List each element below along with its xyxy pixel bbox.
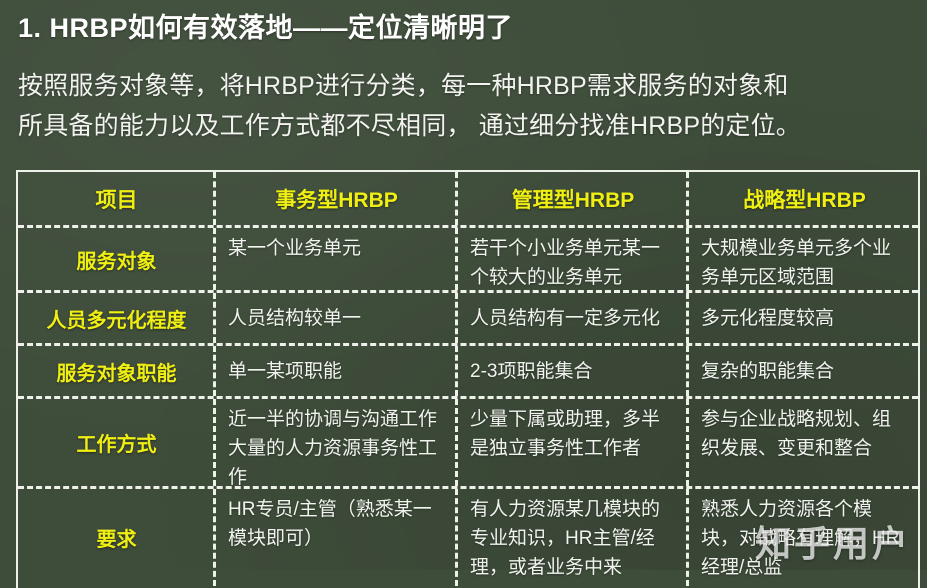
table-cell: 大规模业务单元多个业务单元区域范围 — [686, 228, 918, 290]
row-label: 要求 — [97, 523, 137, 552]
table-row: 要求 HR专员/主管（熟悉某一模块即可） 有人力资源某几模块的专业知识，HR主管… — [18, 486, 918, 586]
cell-text: 单一某项职能 — [228, 357, 342, 386]
cell-text: 复杂的职能集合 — [701, 357, 834, 386]
slide-canvas: 1. HRBP如何有效落地——定位清晰明了 按照服务对象等，将HRBP进行分类，… — [0, 0, 927, 570]
cell-text: 少量下属或助理，多半是独立事务性工作者 — [470, 405, 676, 463]
header-label: 事务型HRBP — [275, 184, 398, 214]
row-label: 服务对象 — [77, 245, 157, 274]
table-header-cell-strategic: 战略型HRBP — [686, 172, 918, 225]
cell-text: 某一个业务单元 — [228, 234, 361, 263]
table-header-row: 项目 事务型HRBP 管理型HRBP 战略型HRBP — [18, 172, 918, 225]
table-cell: 单一某项职能 — [213, 346, 455, 396]
table-cell: 熟悉人力资源各个模块，对战略有理解，HR经理/总监 — [686, 489, 918, 586]
cell-text: 大规模业务单元多个业务单元区域范围 — [701, 234, 908, 292]
table-cell: 复杂的职能集合 — [686, 346, 918, 396]
table-row: 人员多元化程度 人员结构较单一 人员结构有一定多元化 多元化程度较高 — [18, 290, 918, 343]
table-row: 工作方式 近一半的协调与沟通工作大量的人力资源事务性工作 少量下属或助理，多半是… — [18, 396, 918, 486]
table-cell: HR专员/主管（熟悉某一模块即可） — [213, 489, 455, 586]
table-cell: 人员结构有一定多元化 — [455, 293, 686, 343]
table-cell: 少量下属或助理，多半是独立事务性工作者 — [455, 399, 686, 486]
cell-text: 2-3项职能集合 — [470, 357, 592, 386]
subtitle-line-2: 所具备的能力以及工作方式都不尽相同， 通过细分找准HRBP的定位。 — [18, 106, 918, 146]
table-cell: 人员结构较单一 — [213, 293, 455, 343]
table-cell: 若干个小业务单元某一个较大的业务单元 — [455, 228, 686, 290]
table-cell: 近一半的协调与沟通工作大量的人力资源事务性工作 — [213, 399, 455, 486]
table-header-cell-transactional: 事务型HRBP — [213, 172, 455, 225]
table-cell: 多元化程度较高 — [686, 293, 918, 343]
table-cell: 有人力资源某几模块的专业知识，HR主管/经理，或者业务中来 — [455, 489, 686, 586]
cell-text: 参与企业战略规划、组织发展、变更和整合 — [701, 405, 908, 463]
row-label-cell: 服务对象 — [18, 228, 213, 290]
header-label: 管理型HRBP — [512, 184, 635, 214]
header-label: 战略型HRBP — [743, 184, 866, 214]
table-cell: 某一个业务单元 — [213, 228, 455, 290]
table-cell: 2-3项职能集合 — [455, 346, 686, 396]
cell-text: 若干个小业务单元某一个较大的业务单元 — [470, 234, 676, 292]
row-label-cell: 服务对象职能 — [18, 346, 213, 396]
row-label: 人员多元化程度 — [47, 304, 187, 333]
table-header-cell-item: 项目 — [18, 172, 213, 225]
row-label: 工作方式 — [77, 428, 157, 457]
cell-text: 人员结构较单一 — [228, 304, 361, 333]
cell-text: 人员结构有一定多元化 — [470, 304, 660, 333]
cell-text: 熟悉人力资源各个模块，对战略有理解，HR经理/总监 — [701, 495, 908, 582]
subtitle-line-1: 按照服务对象等，将HRBP进行分类，每一种HRBP需求服务的对象和 — [18, 66, 918, 106]
page-title: 1. HRBP如何有效落地——定位清晰明了 — [18, 6, 513, 45]
cell-text: 多元化程度较高 — [701, 304, 834, 333]
slide-subtitle: 按照服务对象等，将HRBP进行分类，每一种HRBP需求服务的对象和 所具备的能力… — [18, 66, 918, 146]
cell-text: 有人力资源某几模块的专业知识，HR主管/经理，或者业务中来 — [470, 495, 676, 582]
table-cell: 参与企业战略规划、组织发展、变更和整合 — [686, 399, 918, 486]
header-label: 项目 — [96, 184, 138, 214]
cell-text: 近一半的协调与沟通工作大量的人力资源事务性工作 — [228, 405, 445, 492]
row-label: 服务对象职能 — [57, 357, 177, 386]
table-row: 服务对象 某一个业务单元 若干个小业务单元某一个较大的业务单元 大规模业务单元多… — [18, 225, 918, 290]
comparison-table: 项目 事务型HRBP 管理型HRBP 战略型HRBP 服务对象 某一个业务单元 … — [16, 170, 920, 588]
row-label-cell: 人员多元化程度 — [18, 293, 213, 343]
table-row: 服务对象职能 单一某项职能 2-3项职能集合 复杂的职能集合 — [18, 343, 918, 396]
cell-text: HR专员/主管（熟悉某一模块即可） — [228, 495, 445, 553]
row-label-cell: 要求 — [18, 489, 213, 586]
table-header-cell-managerial: 管理型HRBP — [455, 172, 686, 225]
row-label-cell: 工作方式 — [18, 399, 213, 486]
